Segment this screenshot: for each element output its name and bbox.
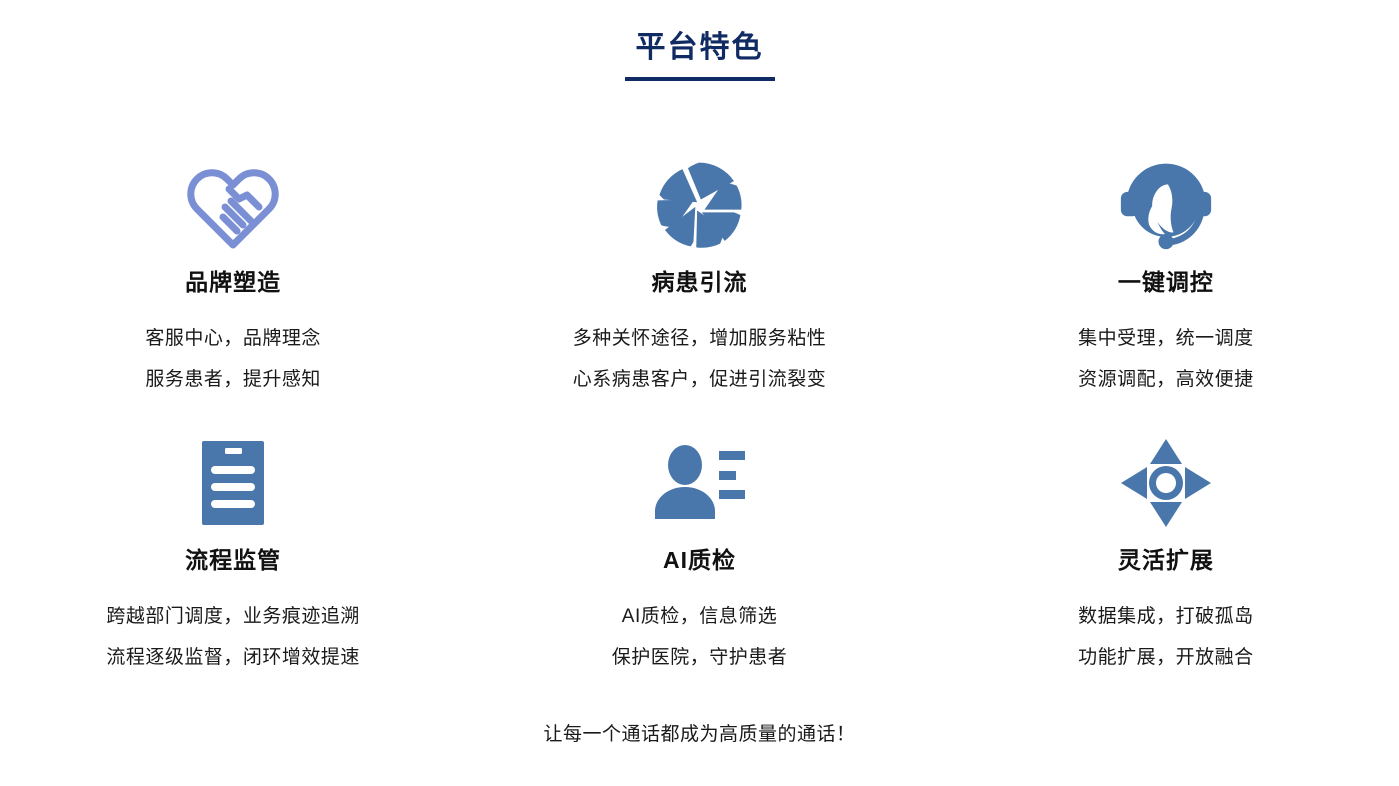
feature-description: AI质检，信息筛选 保护医院，守护患者 bbox=[612, 596, 788, 678]
feature-description: 跨越部门调度，业务痕迹追溯 流程逐级监督，闭环增效提速 bbox=[106, 596, 360, 678]
handshake-heart-icon bbox=[185, 150, 281, 260]
feature-description-line: 服务患者，提升感知 bbox=[145, 359, 321, 400]
feature-grid: 品牌塑造 客服中心，品牌理念 服务患者，提升感知 bbox=[0, 150, 1399, 678]
feature-description-line: 集中受理，统一调度 bbox=[1078, 318, 1254, 359]
clipboard-document-icon bbox=[202, 428, 264, 538]
user-profile-lines-icon bbox=[653, 428, 745, 538]
feature-description-line: 保护医院，守护患者 bbox=[612, 637, 788, 678]
feature-card-brand-building: 品牌塑造 客服中心，品牌理念 服务患者，提升感知 bbox=[0, 150, 466, 400]
feature-card-patient-acquisition: 病患引流 多种关怀途径，增加服务粘性 心系病患客户，促进引流裂变 bbox=[466, 150, 932, 400]
title-underline bbox=[625, 77, 775, 81]
feature-description-line: 流程逐级监督，闭环增效提速 bbox=[106, 637, 360, 678]
feature-title: 流程监管 bbox=[185, 544, 281, 576]
feature-description-line: 资源调配，高效便捷 bbox=[1078, 359, 1254, 400]
feature-card-process-supervision: 流程监管 跨越部门调度，业务痕迹追溯 流程逐级监督，闭环增效提速 bbox=[0, 428, 466, 678]
feature-title: AI质检 bbox=[663, 544, 736, 576]
feature-description-line: 跨越部门调度，业务痕迹追溯 bbox=[106, 596, 360, 637]
feature-title: 病患引流 bbox=[651, 266, 747, 298]
footer-tagline: 让每一个通话都成为高质量的通话！ bbox=[0, 720, 1399, 750]
page-title-block: 平台特色 bbox=[0, 28, 1399, 81]
feature-description: 客服中心，品牌理念 服务患者，提升感知 bbox=[145, 318, 321, 400]
feature-description-line: 客服中心，品牌理念 bbox=[145, 318, 321, 359]
feature-description: 集中受理，统一调度 资源调配，高效便捷 bbox=[1078, 318, 1254, 400]
feature-description-line: 功能扩展，开放融合 bbox=[1078, 637, 1254, 678]
feature-title: 品牌塑造 bbox=[185, 266, 281, 298]
aperture-icon bbox=[653, 150, 745, 260]
feature-description-line: 多种关怀途径，增加服务粘性 bbox=[573, 318, 827, 359]
feature-description: 数据集成，打破孤岛 功能扩展，开放融合 bbox=[1078, 596, 1254, 678]
feature-description-line: 数据集成，打破孤岛 bbox=[1078, 596, 1254, 637]
four-direction-arrows-icon bbox=[1121, 428, 1211, 538]
feature-card-one-click-control: 一键调控 集中受理，统一调度 资源调配，高效便捷 bbox=[933, 150, 1399, 400]
feature-title: 一键调控 bbox=[1118, 266, 1214, 298]
feature-card-flexible-expansion: 灵活扩展 数据集成，打破孤岛 功能扩展，开放融合 bbox=[933, 428, 1399, 678]
headset-support-icon bbox=[1119, 150, 1213, 260]
feature-card-ai-quality-check: AI质检 AI质检，信息筛选 保护医院，守护患者 bbox=[466, 428, 932, 678]
platform-features-page: 平台特色 品牌塑造 客服中心，品牌理念 服务患者，提升感知 bbox=[0, 0, 1399, 786]
feature-description: 多种关怀途径，增加服务粘性 心系病患客户，促进引流裂变 bbox=[573, 318, 827, 400]
feature-title: 灵活扩展 bbox=[1118, 544, 1214, 576]
feature-description-line: AI质检，信息筛选 bbox=[612, 596, 788, 637]
page-title: 平台特色 bbox=[636, 28, 764, 77]
feature-description-line: 心系病患客户，促进引流裂变 bbox=[573, 359, 827, 400]
